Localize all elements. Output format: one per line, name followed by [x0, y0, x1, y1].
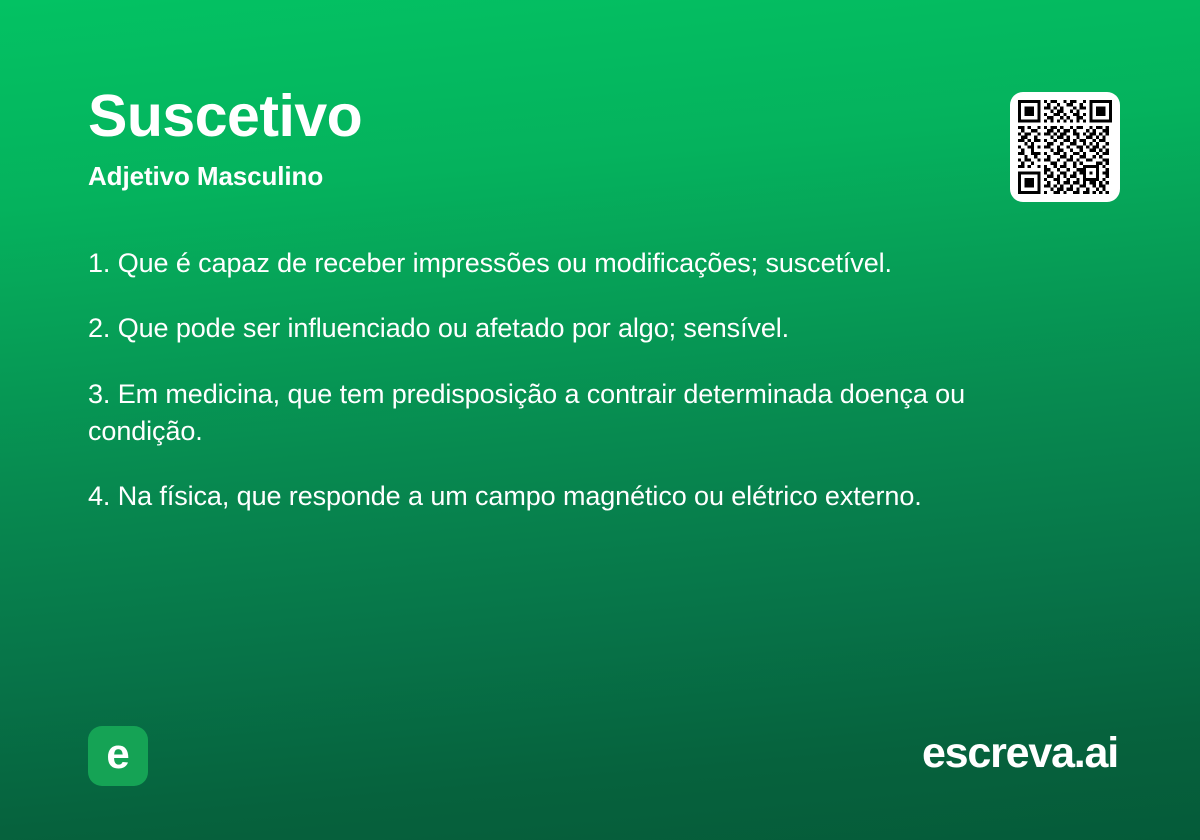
definition-item: 3. Em medicina, que tem predisposição a …	[88, 376, 1078, 451]
definition-item: 1. Que é capaz de receber impressões ou …	[88, 245, 1078, 282]
header: Suscetivo Adjetivo Masculino	[88, 86, 968, 192]
footer: e escreva.ai	[0, 726, 1200, 788]
dictionary-card: Suscetivo Adjetivo Masculino	[0, 0, 1200, 840]
definition-item: 4. Na física, que responde a um campo ma…	[88, 478, 1078, 515]
page-title: Suscetivo	[88, 86, 968, 148]
brand-logo: e	[88, 726, 148, 786]
brand-logo-glyph: e	[106, 733, 129, 775]
word-class-label: Adjetivo Masculino	[88, 161, 968, 192]
definitions-list: 1. Que é capaz de receber impressões ou …	[88, 245, 1078, 515]
definition-item: 2. Que pode ser influenciado ou afetado …	[88, 310, 1078, 347]
qr-code[interactable]	[1010, 92, 1120, 202]
qr-code-icon	[1018, 100, 1112, 194]
brand-name: escreva.ai	[922, 732, 1118, 775]
